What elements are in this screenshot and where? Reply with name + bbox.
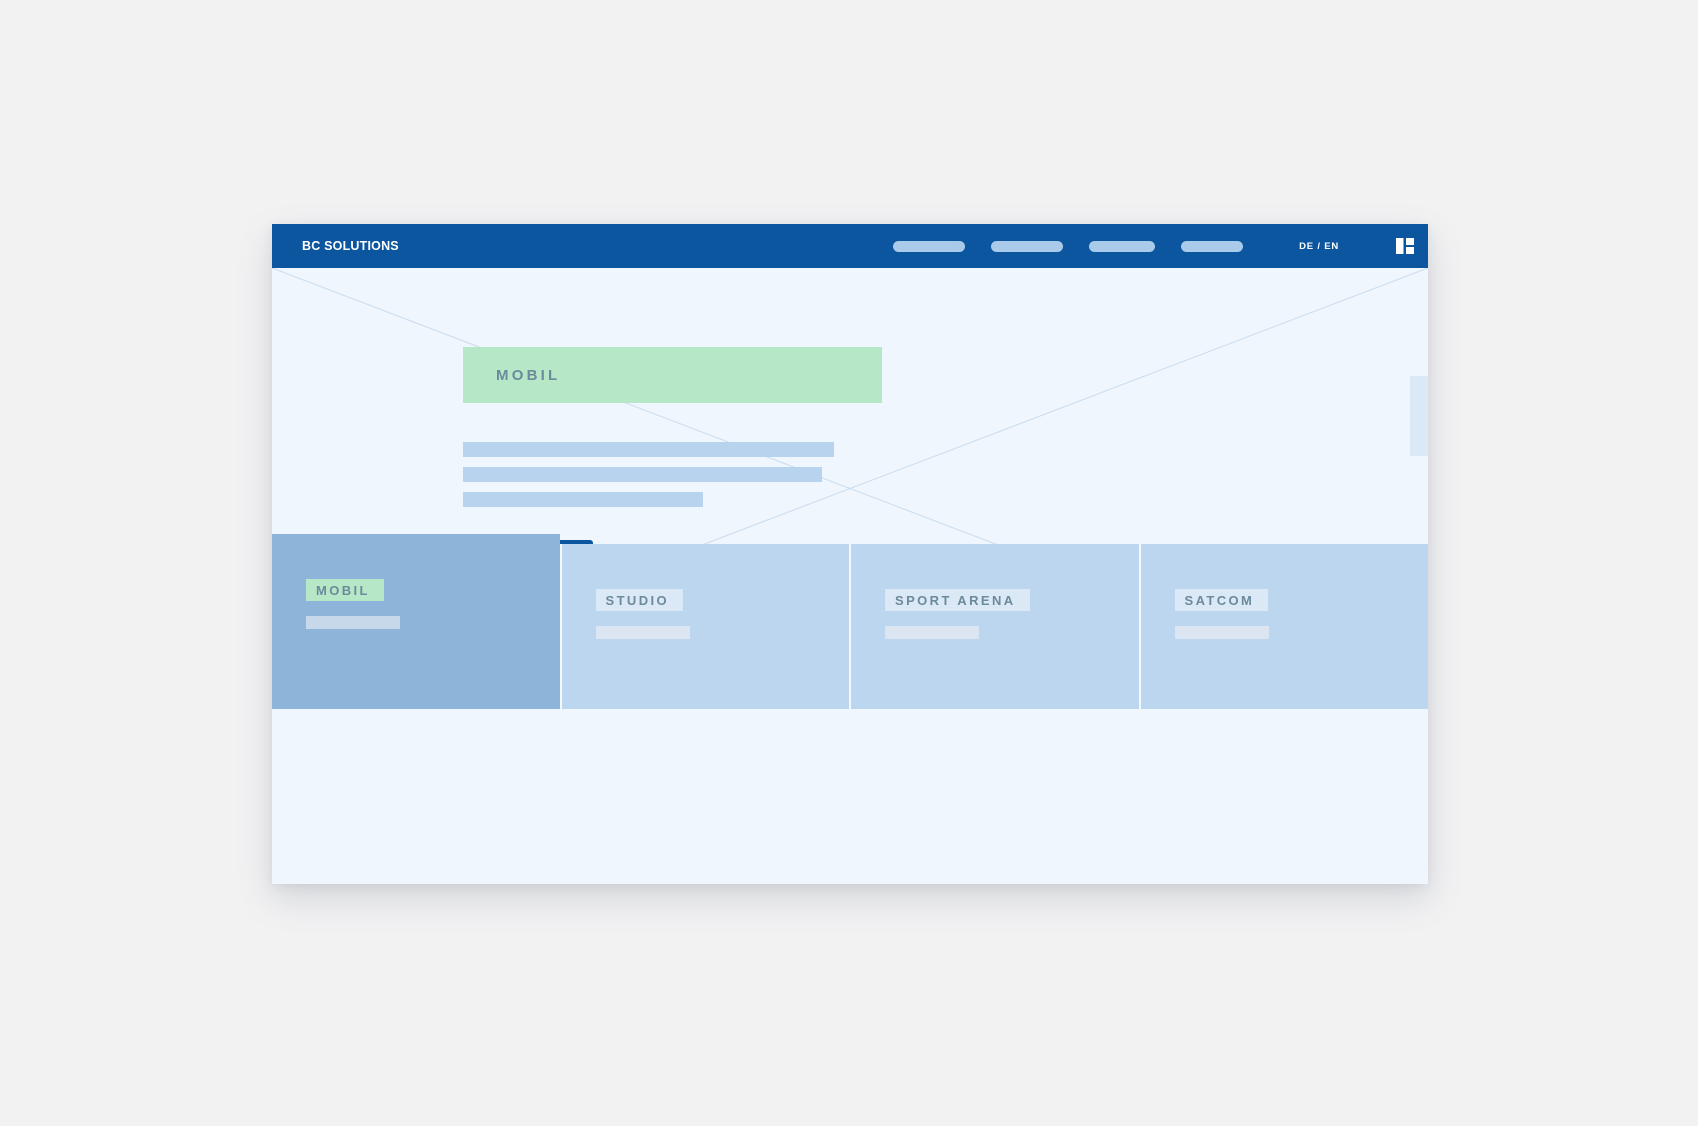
teaser-card-title: MOBIL <box>316 583 370 598</box>
teaser-card-label-badge: STUDIO <box>596 589 684 611</box>
hero-body-placeholder <box>463 442 834 507</box>
nav-item-3[interactable] <box>1089 241 1155 252</box>
teaser-card-label-badge: SATCOM <box>1175 589 1269 611</box>
app-frame: BC SOLUTIONS DE / EN MOBIL <box>272 224 1428 884</box>
teaser-card-sport-arena[interactable]: SPORT ARENA <box>849 544 1139 709</box>
teaser-card-title: SATCOM <box>1185 593 1255 608</box>
grid-layout-icon[interactable] <box>1395 236 1415 256</box>
teaser-card-text-placeholder <box>306 616 400 629</box>
top-navigation-bar: BC SOLUTIONS DE / EN <box>272 224 1428 268</box>
teaser-card-text-placeholder <box>885 626 979 639</box>
nav-item-4[interactable] <box>1181 241 1243 252</box>
teaser-card-row: MOBIL STUDIO SPORT ARENA SATCOM <box>272 534 1428 709</box>
nav-item-1[interactable] <box>893 241 965 252</box>
teaser-card-title: STUDIO <box>606 593 670 608</box>
hero-text-line-3 <box>463 492 703 507</box>
nav-item-2[interactable] <box>991 241 1063 252</box>
hero-text-line-1 <box>463 442 834 457</box>
teaser-card-satcom[interactable]: SATCOM <box>1139 544 1429 709</box>
main-navigation: DE / EN <box>893 236 1415 256</box>
teaser-card-text-placeholder <box>1175 626 1269 639</box>
side-scroll-tab[interactable] <box>1410 376 1428 456</box>
hero-text-line-2 <box>463 467 822 482</box>
hero-title-banner: MOBIL <box>463 347 882 403</box>
language-switcher[interactable]: DE / EN <box>1299 241 1339 252</box>
teaser-card-studio[interactable]: STUDIO <box>560 544 850 709</box>
teaser-card-mobil[interactable]: MOBIL <box>272 534 560 709</box>
brand-logo-text[interactable]: BC SOLUTIONS <box>302 239 399 253</box>
teaser-card-label-badge: SPORT ARENA <box>885 589 1030 611</box>
teaser-card-text-placeholder <box>596 626 690 639</box>
teaser-card-label-badge: MOBIL <box>306 579 384 601</box>
hero-title-text: MOBIL <box>496 367 560 384</box>
teaser-card-title: SPORT ARENA <box>895 593 1016 608</box>
hero-fullhead-module: MOBIL MODUL: FULLHEAD MOBIL STUDI <box>272 268 1428 709</box>
